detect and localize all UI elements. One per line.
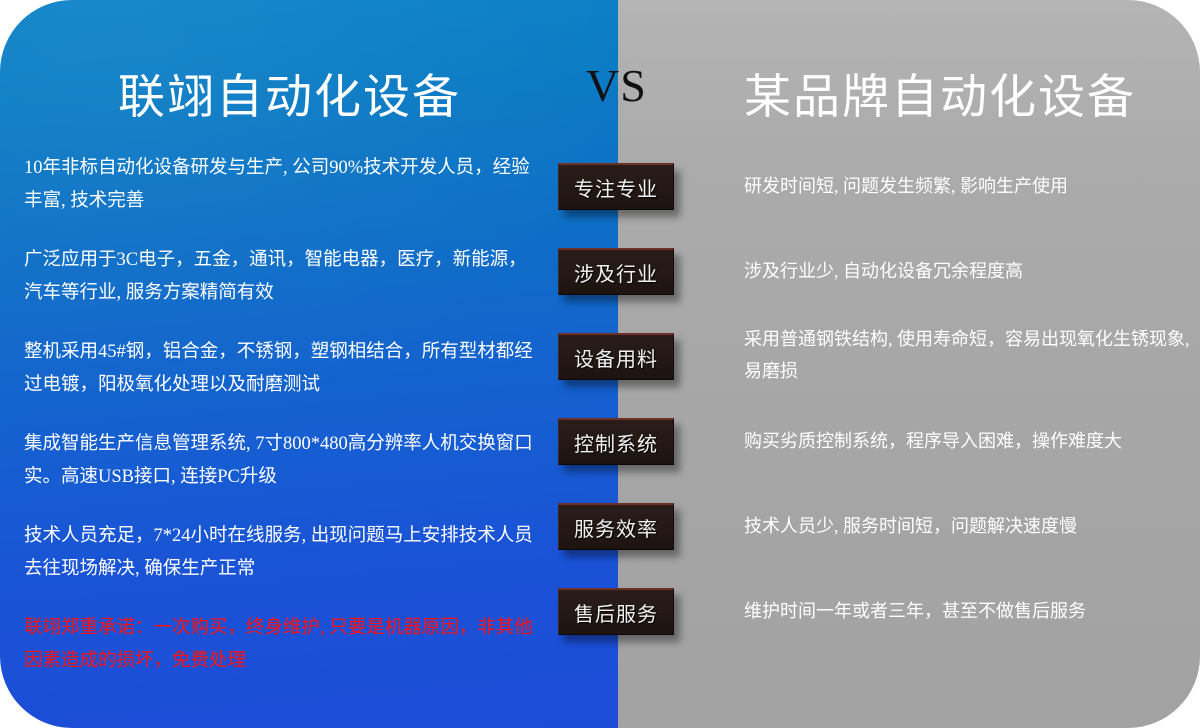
category-plaque-6[interactable]: 售后服务 (558, 588, 674, 635)
comparison-card: 联翊自动化设备 VS 某品牌自动化设备 10年非标自动化设备研发与生产, 公司9… (0, 0, 1200, 728)
comparison-infographic: 联翊自动化设备 VS 某品牌自动化设备 10年非标自动化设备研发与生产, 公司9… (0, 0, 1200, 728)
left-feature-text-1: 10年非标自动化设备研发与生产, 公司90%技术开发人员，经验丰富, 技术完善 (24, 152, 534, 218)
left-feature-text-2: 广泛应用于3C电子，五金，通讯，智能电器，医疗，新能源，汽车等行业, 服务方案精… (24, 244, 534, 310)
category-plaque-5[interactable]: 服务效率 (558, 503, 674, 550)
category-plaque-3-label: 设备用料 (574, 343, 658, 372)
left-feature-text-3: 整机采用45#钢，铝合金，不锈钢，塑钢相结合，所有型材都经过电镀，阳极氧化处理以… (24, 336, 534, 402)
category-plaque-5-label: 服务效率 (574, 513, 658, 542)
category-plaque-6-label: 售后服务 (574, 598, 658, 627)
right-drawback-text-4: 购买劣质控制系统，程序导入困难，操作难度大 (744, 425, 1192, 457)
right-column-title: 某品牌自动化设备 (744, 58, 1136, 127)
category-plaque-2-label: 涉及行业 (574, 258, 658, 287)
category-plaque-3[interactable]: 设备用料 (558, 333, 674, 380)
category-plaque-1-label: 专注专业 (574, 173, 658, 202)
category-plaque-4[interactable]: 控制系统 (558, 418, 674, 465)
right-drawback-text-3: 采用普通钢铁结构, 使用寿命短，容易出现氧化生锈现象, 易磨损 (744, 323, 1192, 387)
left-feature-list: 10年非标自动化设备研发与生产, 公司90%技术开发人员，经验丰富, 技术完善 … (24, 152, 534, 704)
vs-divider-label: VS (586, 59, 647, 112)
left-feature-text-5: 技术人员充足，7*24小时在线服务, 出现问题马上安排技术人员去往现场解决, 确… (24, 520, 534, 586)
left-column-title: 联翊自动化设备 (118, 58, 461, 127)
right-drawback-text-6: 维护时间一年或者三年，甚至不做售后服务 (744, 595, 1192, 627)
right-drawback-text-1: 研发时间短, 问题发生频繁, 影响生产使用 (744, 170, 1192, 202)
right-drawback-text-5: 技术人员少, 服务时间短，问题解决速度慢 (744, 510, 1192, 542)
left-feature-text-4: 集成智能生产信息管理系统, 7寸800*480高分辨率人机交换窗口实。高速USB… (24, 428, 534, 494)
left-feature-text-6-guarantee: 联翊郑重承诺：一次购买，终身维护, 只要是机器原因，非其他因素造成的损坏，免费处… (24, 612, 534, 678)
category-plaque-4-label: 控制系统 (574, 428, 658, 457)
category-plaque-1[interactable]: 专注专业 (558, 163, 674, 210)
right-drawback-text-2: 涉及行业少, 自动化设备冗余程度高 (744, 255, 1192, 287)
category-plaque-2[interactable]: 涉及行业 (558, 248, 674, 295)
